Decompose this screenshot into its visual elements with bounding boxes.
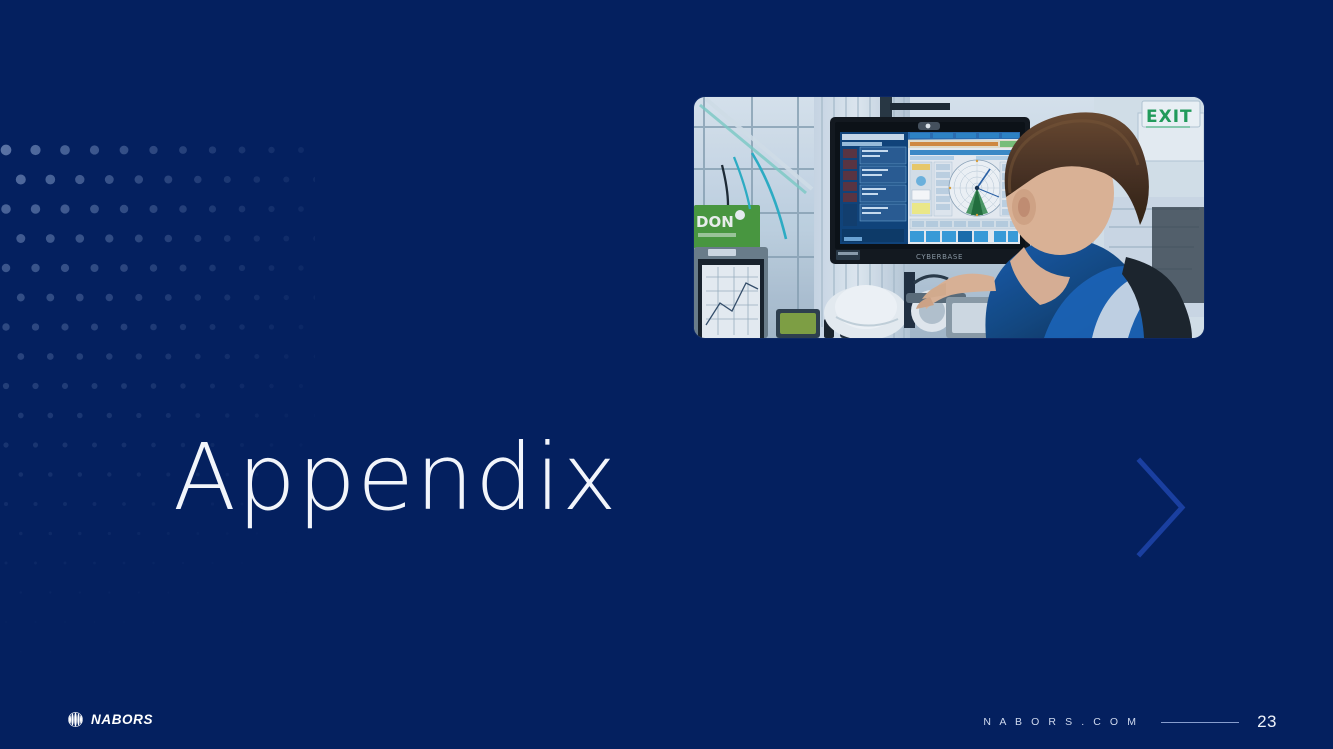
halftone-dot-grid xyxy=(0,143,315,655)
page-title: Appendix xyxy=(173,430,618,527)
page-number: 23 xyxy=(1257,712,1277,732)
website-label: N A B O R S . C O M xyxy=(983,716,1139,728)
hero-photo: EXIT DON xyxy=(694,97,1204,338)
footer-divider xyxy=(1161,722,1239,723)
chevron-right-icon[interactable] xyxy=(1132,455,1192,560)
nabors-mark-icon xyxy=(68,712,83,727)
slide-root: EXIT DON xyxy=(0,0,1333,749)
footer-meta: N A B O R S . C O M 23 xyxy=(983,712,1277,732)
nabors-logo-text: NABORS xyxy=(91,712,153,727)
nabors-logo: NABORS xyxy=(68,712,153,727)
